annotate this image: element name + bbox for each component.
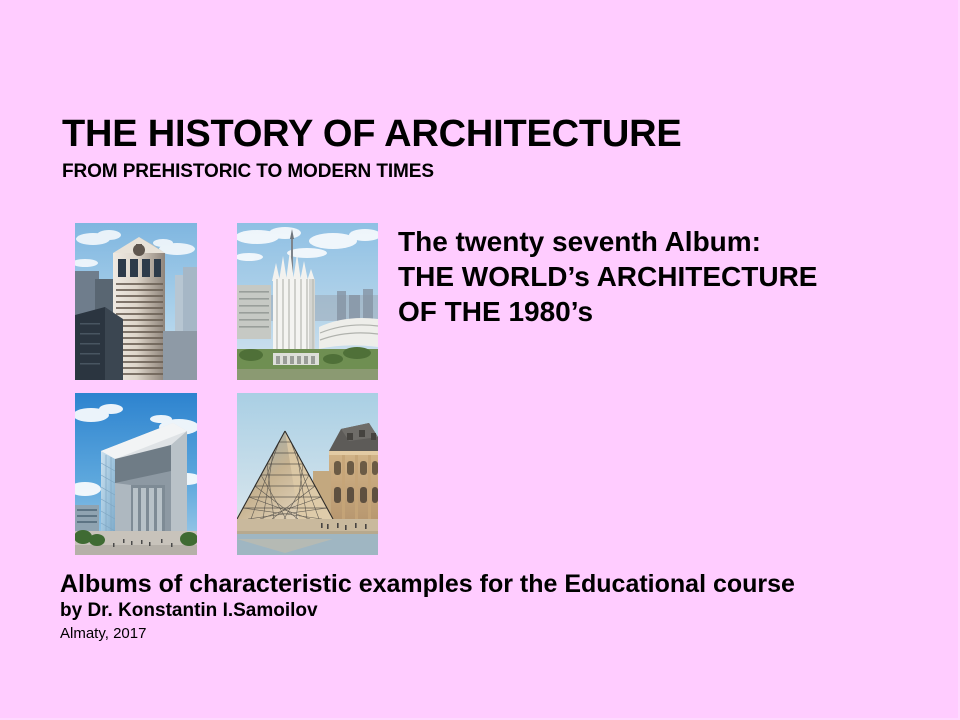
louvre-pyramid-photo [237, 393, 378, 555]
course-label: Albums of characteristic examples for th… [60, 570, 920, 599]
grande-arche-photo [75, 393, 197, 555]
page-subtitle: FROM PREHISTORIC TO MODERN TIMES [62, 160, 882, 184]
album-topic-label: THE WORLD’s ARCHITECTURE [398, 259, 918, 294]
album-caption-block: The twenty seventh Album: THE WORLD’s AR… [398, 224, 918, 329]
page-title: THE HISTORY OF ARCHITECTURE [62, 112, 882, 156]
presentation-slide: THE HISTORY OF ARCHITECTURE FROM PREHIST… [0, 0, 960, 720]
album-number-label: The twenty seventh Album: [398, 224, 918, 259]
title-block: THE HISTORY OF ARCHITECTURE FROM PREHIST… [62, 112, 882, 184]
fluted-tower-photo [237, 223, 378, 380]
att-building-photo [75, 223, 197, 380]
footer-block: Albums of characteristic examples for th… [60, 570, 920, 644]
place-year-label: Almaty, 2017 [60, 623, 920, 644]
author-label: by Dr. Konstantin I.Samoilov [60, 599, 920, 623]
album-period-label: OF THE 1980’s [398, 294, 918, 329]
